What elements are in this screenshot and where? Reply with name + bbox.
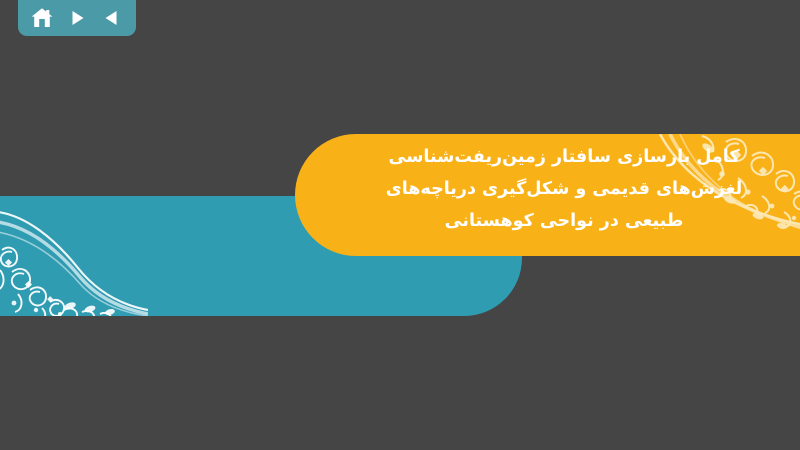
home-button[interactable] <box>27 4 57 32</box>
home-icon <box>30 7 54 29</box>
back-button[interactable] <box>97 4 127 32</box>
page-title: کامل بازسازی سافتار زمین‌ریفت‌شناسی لغزش… <box>335 141 793 237</box>
title-banner: کامل بازسازی سافتار زمین‌ریفت‌شناسی لغزش… <box>295 134 800 256</box>
triangle-left-icon <box>102 8 122 28</box>
title-line-2: لغزش‌های قدیمی و شکل‌گیری دریاچه‌های <box>335 173 793 205</box>
title-line-1: کامل بازسازی سافتار زمین‌ریفت‌شناسی <box>335 141 793 173</box>
arabesque-islimi-ornament-teal <box>0 198 148 316</box>
title-line-3: طبیعی در نواحی کوهستانی <box>335 205 793 237</box>
navigation-bar <box>18 0 136 36</box>
forward-button[interactable] <box>62 4 92 32</box>
slide-canvas: کامل بازسازی سافتار زمین‌ریفت‌شناسی لغزش… <box>0 0 800 450</box>
triangle-right-icon <box>67 8 87 28</box>
